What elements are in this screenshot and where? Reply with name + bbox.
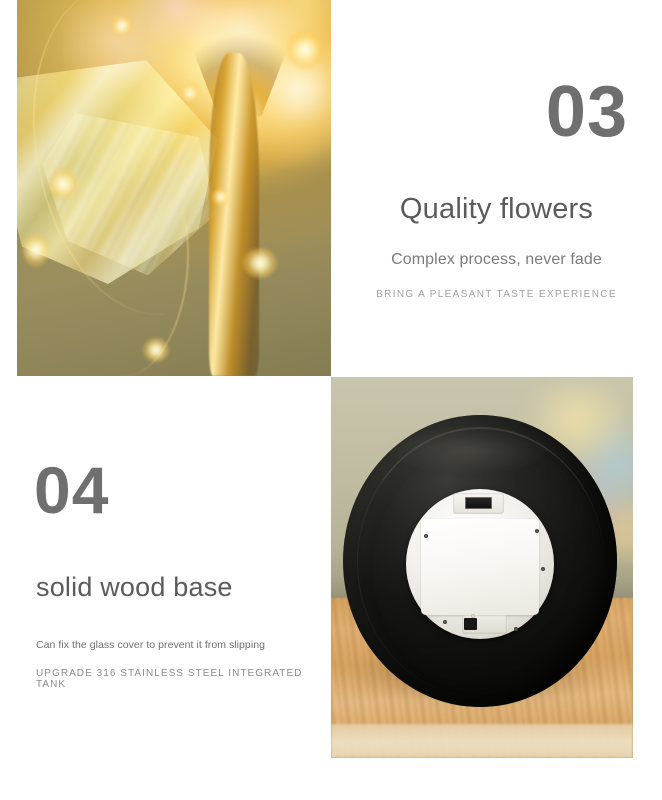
usb-port — [453, 493, 503, 514]
section-03-caption: BRING A PLEASANT TASTE EXPERIENCE — [331, 289, 662, 300]
section-03-subtitle: Complex process, never fade — [331, 251, 662, 269]
screw-hole — [424, 534, 428, 538]
product-detail-page: 03 Quality flowers Complex process, neve… — [0, 0, 662, 800]
power-switch-toggle — [464, 618, 477, 630]
led-light-point — [180, 83, 200, 103]
wood-table-edge — [331, 724, 633, 758]
wood-base-product-photo — [331, 377, 633, 758]
screw-hole — [535, 529, 539, 533]
usb-port-opening — [465, 497, 491, 509]
screw-hole — [541, 567, 545, 571]
flower-product-photo — [17, 0, 331, 376]
section-04-subtitle: Can fix the glass cover to prevent it fr… — [36, 639, 265, 651]
section-04-title: solid wood base — [36, 572, 233, 603]
power-switch — [462, 615, 506, 635]
battery-cover-plate — [421, 519, 539, 615]
led-light-point — [212, 188, 230, 206]
base-top-highlight — [387, 427, 551, 474]
black-round-base — [343, 415, 617, 707]
section-04-text-block: 04 solid wood base Can fix the glass cov… — [0, 377, 331, 800]
section-04-number: 04 — [34, 457, 109, 523]
white-battery-panel — [406, 489, 554, 639]
section-04-caption: UPGRADE 316 STAINLESS STEEL INTEGRATED T… — [36, 668, 331, 690]
section-03-text-block: 03 Quality flowers Complex process, neve… — [331, 0, 662, 377]
led-light-point — [143, 338, 169, 362]
led-light-point — [287, 30, 323, 70]
section-03-title: Quality flowers — [331, 193, 662, 226]
screw-hole — [443, 620, 447, 624]
section-03-number: 03 — [546, 76, 628, 148]
